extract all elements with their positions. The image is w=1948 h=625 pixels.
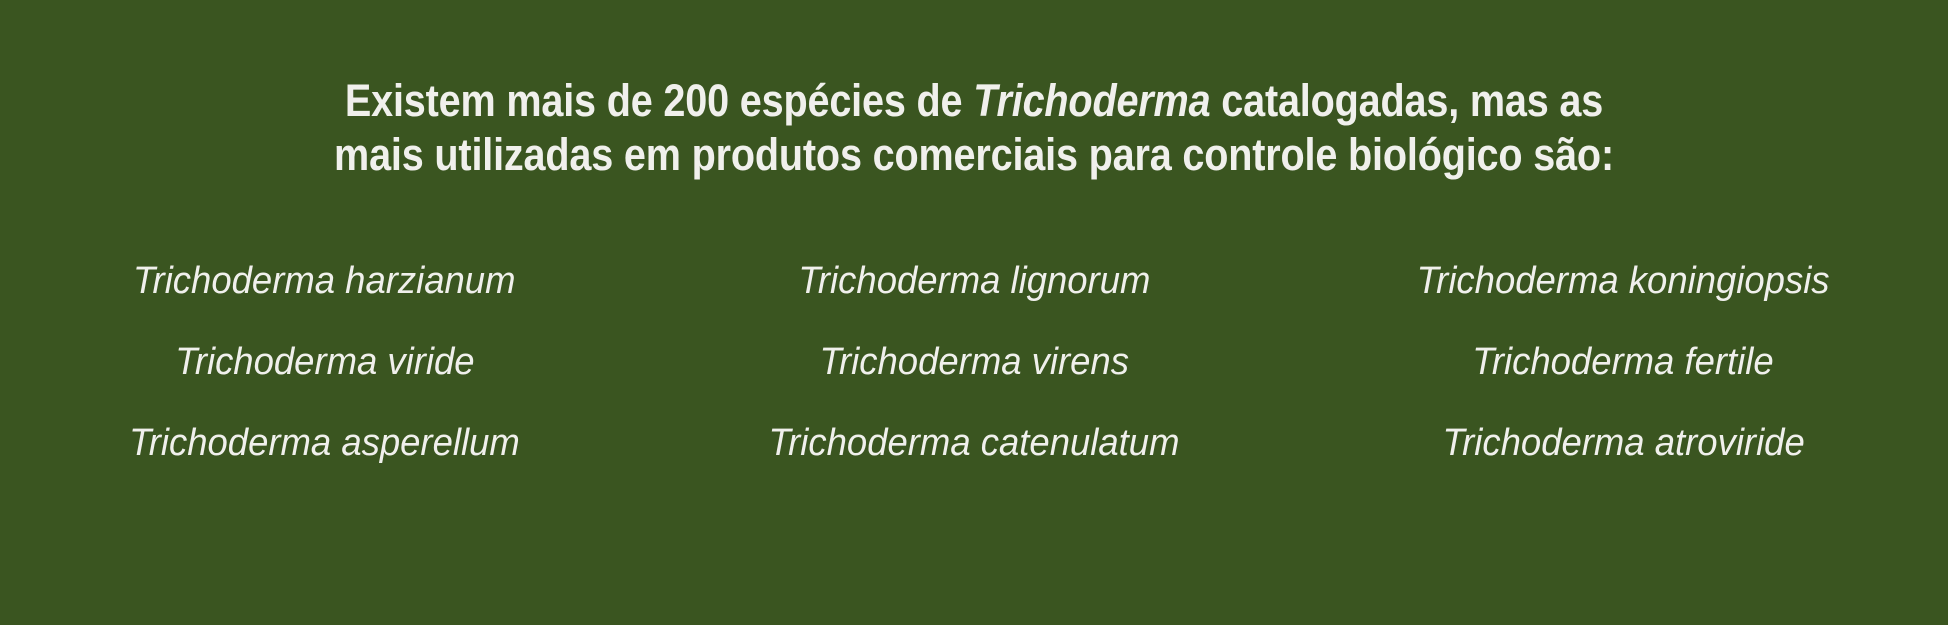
- species-name: Trichoderma fertile: [1473, 339, 1774, 385]
- species-name: Trichoderma atroviride: [1442, 420, 1804, 466]
- species-cell-r3c2: Trichoderma catenulatum: [649, 402, 1298, 483]
- species-cell-r2c3: Trichoderma fertile: [1299, 321, 1948, 402]
- species-name: Trichoderma harzianum: [133, 258, 516, 304]
- title-genus-emphasis: Trichoderma: [973, 75, 1210, 126]
- species-cell-r3c3: Trichoderma atroviride: [1299, 402, 1948, 483]
- species-name: Trichoderma catenulatum: [769, 420, 1180, 466]
- species-cell-r1c1: Trichoderma harzianum: [0, 240, 649, 321]
- title-line-2: mais utilizadas em produtos comerciais p…: [117, 128, 1831, 182]
- title-line-1: Existem mais de 200 espécies de Trichode…: [117, 74, 1831, 128]
- species-cell-r3c1: Trichoderma asperellum: [0, 402, 649, 483]
- species-name: Trichoderma koningiopsis: [1417, 258, 1830, 304]
- species-cell-r2c1: Trichoderma viride: [0, 321, 649, 402]
- species-cell-r2c2: Trichoderma virens: [649, 321, 1298, 402]
- species-name: Trichoderma viride: [175, 339, 474, 385]
- species-name: Trichoderma asperellum: [129, 420, 520, 466]
- species-name: Trichoderma lignorum: [798, 258, 1150, 304]
- title-line-1-text-after: catalogadas, mas as: [1210, 75, 1603, 126]
- species-cell-r1c2: Trichoderma lignorum: [649, 240, 1298, 321]
- species-grid: Trichoderma harzianum Trichoderma lignor…: [0, 240, 1948, 483]
- title-block: Existem mais de 200 espécies de Trichode…: [0, 0, 1948, 182]
- species-name: Trichoderma virens: [819, 339, 1128, 385]
- species-cell-r1c3: Trichoderma koningiopsis: [1299, 240, 1948, 321]
- title-line-1-text-before: Existem mais de 200 espécies de: [345, 75, 973, 126]
- infographic-slide: Existem mais de 200 espécies de Trichode…: [0, 0, 1948, 625]
